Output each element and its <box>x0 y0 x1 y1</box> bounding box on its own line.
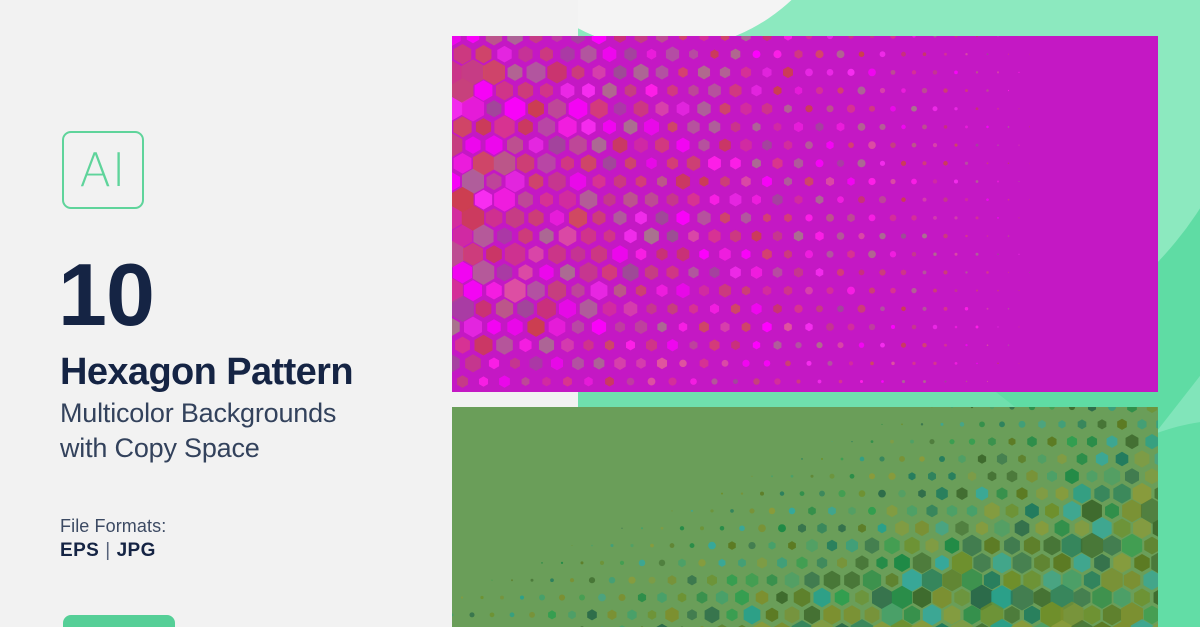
item-count: 10 <box>58 255 154 336</box>
poster-canvas: AI 10 Hexagon Pattern Multicolor Backgro… <box>0 0 1200 627</box>
magenta-hexagon-panel <box>452 36 1158 392</box>
format-jpg: JPG <box>117 540 156 561</box>
page-subtitle: Multicolor Backgrounds with Copy Space <box>60 396 336 465</box>
subtitle-line-1: Multicolor Backgrounds <box>60 396 336 431</box>
format-eps: EPS <box>60 540 99 561</box>
adobe-illustrator-badge-icon: AI <box>62 131 144 209</box>
green-hexagon-panel <box>452 407 1158 627</box>
left-content-column: AI 10 Hexagon Pattern Multicolor Backgro… <box>0 0 452 627</box>
page-title: Hexagon Pattern <box>60 352 353 392</box>
format-separator: | <box>99 540 116 561</box>
magenta-hexagon-pattern <box>452 36 1158 392</box>
badge-label: AI <box>79 147 126 193</box>
green-hexagon-pattern <box>452 407 1158 627</box>
file-formats-label: File Formats: <box>60 516 166 537</box>
subtitle-line-2: with Copy Space <box>60 431 336 466</box>
file-formats-value: EPS|JPG <box>60 540 156 562</box>
cta-button[interactable] <box>63 615 175 627</box>
